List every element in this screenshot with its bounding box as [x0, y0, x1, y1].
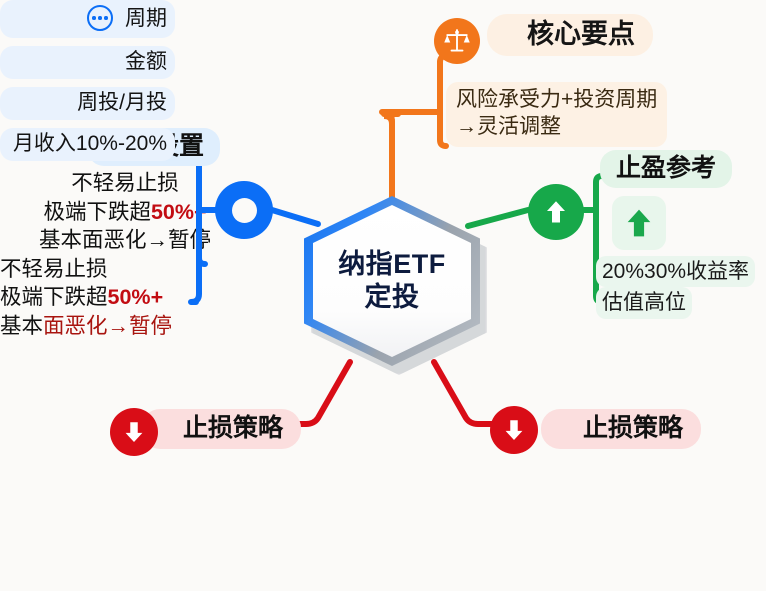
take-profit-line-1: 20%30%收益率 — [596, 256, 755, 287]
branch-title-take-profit[interactable]: 止盈参考 — [600, 150, 732, 188]
stop-loss-left-line-3: 基本面恶化→暂停 — [0, 226, 250, 255]
plan-settings-row-3[interactable]: 周投/月投 — [0, 87, 175, 120]
balance-scales-icon[interactable] — [434, 18, 480, 64]
plan-settings-label-3: 周投/月投 — [77, 91, 167, 114]
coin-dots-icon — [87, 5, 113, 31]
branch-title-stop-loss-left[interactable]: 止损策略 — [141, 409, 301, 449]
blue-ring-hole — [232, 198, 257, 223]
down-arrow-circle-icon[interactable] — [110, 408, 158, 456]
stop-loss-left-line-2: 极端下跌超50%+ — [0, 198, 250, 227]
plan-settings-label-1: 周期 — [125, 8, 167, 29]
sl-right-l3-part-b: 面恶化→暂停 — [43, 314, 172, 338]
center-label-line2: 定投 — [365, 281, 420, 314]
branch-body-stop-loss-right: 不轻易止损 极端下跌超50%+ 基本面恶化→暂停 — [0, 255, 215, 341]
plan-settings-label-4: 月收入10%-20% — [13, 132, 167, 155]
core-points-line-1: 风险承受力+投资周期 — [456, 86, 657, 113]
branch-title-stop-loss-right[interactable]: 止损策略 — [541, 409, 701, 449]
plan-settings-row-2[interactable]: 金额 — [0, 46, 175, 79]
sl-right-l3-part-a: 基本 — [0, 314, 43, 338]
mindmap-canvas: 纳指ETF 定投 核心要点 风险承受力+投资周期 →灵活调整 定投设置 周期 — [0, 0, 766, 591]
plan-settings-row-4[interactable]: 月收入10%-20% — [0, 128, 175, 161]
center-node-label: 纳指ETF 定投 — [304, 196, 480, 366]
sl-left-l2-percent: 50% — [151, 200, 194, 224]
branch-title-core-points[interactable]: 核心要点 — [487, 14, 653, 56]
down-arrow-circle-icon[interactable] — [490, 406, 538, 454]
up-arrow-icon — [612, 196, 666, 250]
stop-loss-right-line-3: 基本面恶化→暂停 — [0, 312, 215, 341]
blue-ring-icon[interactable] — [215, 181, 273, 239]
sl-left-l2-plus: + — [194, 200, 207, 224]
sl-right-l2-plus: + — [151, 285, 164, 309]
stop-loss-left-line-1: 不轻易止损 — [0, 169, 250, 198]
stop-loss-right-line-1: 不轻易止损 — [0, 255, 215, 284]
up-arrow-circle-icon[interactable] — [528, 184, 584, 240]
branch-body-plan-settings: 周期 金额 周投/月投 月收入10%-20% — [0, 0, 175, 161]
branch-body-stop-loss-left: 不轻易止损 极端下跌超50%+ 基本面恶化→暂停 — [0, 169, 250, 255]
branch-body-take-profit: 20%30%收益率 估值高位 — [596, 256, 755, 319]
sl-left-l2-part-a: 极端下跌超 — [43, 200, 151, 224]
stop-loss-right-line-2: 极端下跌超50%+ — [0, 283, 215, 312]
core-points-line-2: →灵活调整 — [456, 113, 657, 140]
plan-settings-row-1[interactable]: 周期 — [0, 0, 175, 38]
sl-right-l2-percent: 50% — [108, 285, 151, 309]
take-profit-line-2: 估值高位 — [596, 287, 692, 318]
center-node[interactable]: 纳指ETF 定投 — [304, 196, 480, 366]
branch-body-core-points: 风险承受力+投资周期 →灵活调整 — [446, 82, 667, 147]
sl-right-l2-part-a: 极端下跌超 — [0, 285, 108, 309]
plan-settings-label-2: 金额 — [125, 50, 167, 73]
center-label-line1: 纳指ETF — [338, 248, 446, 281]
